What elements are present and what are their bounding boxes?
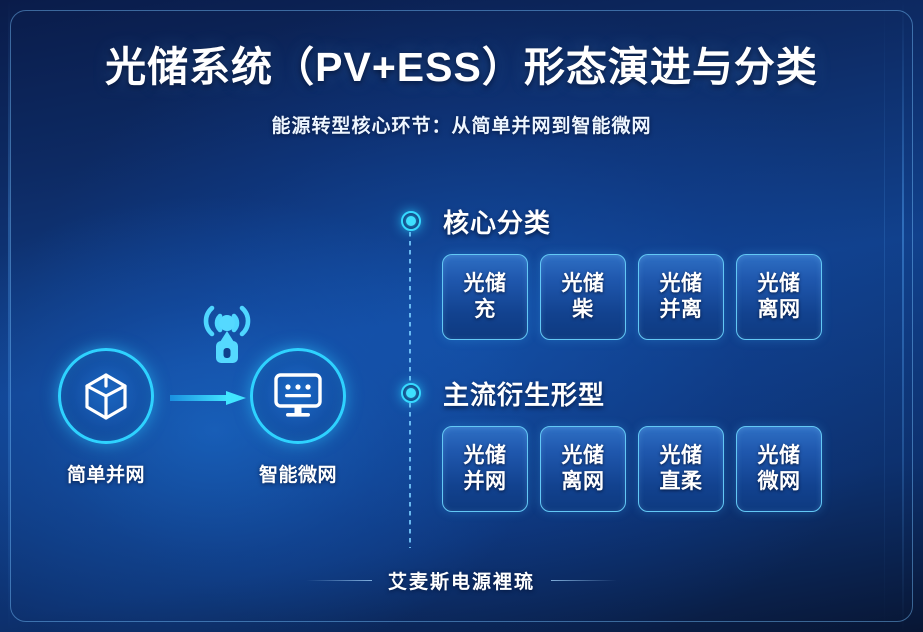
bullet-dot-icon: [401, 383, 421, 403]
footer: 艾麦斯电源裡琉: [0, 567, 923, 594]
evolution-diagram: 简单并网: [30, 290, 380, 520]
section-title: 主流衍生形型: [443, 375, 605, 412]
page-title: 光储系统（PV+ESS）形态演进与分类: [0, 42, 923, 93]
end-node-ring: [250, 348, 346, 444]
section-core-classification: 核心分类 光储 充 光储 柴 光储 并离 光储 离网: [392, 200, 892, 340]
chip-row: 光储 充 光储 柴 光储 并离 光储 离网: [442, 254, 892, 340]
diagram-node-end: 智能微网: [248, 348, 348, 487]
chip-item[interactable]: 光储 并网: [442, 426, 528, 512]
cube-icon: [80, 370, 132, 422]
section-header: 核心分类: [392, 200, 892, 242]
chip-item[interactable]: 光储 并离: [638, 254, 724, 340]
footer-divider-right: [551, 580, 617, 581]
chip-row: 光储 并网 光储 离网 光储 直柔 光储 微网: [442, 426, 892, 512]
classification-panel: 核心分类 光储 充 光储 柴 光储 并离 光储 离网 主流衍生形型 光储 并网 …: [392, 200, 892, 512]
chip-item[interactable]: 光储 充: [442, 254, 528, 340]
slide-canvas: 光储系统（PV+ESS）形态演进与分类 能源转型核心环节：从简单并网到智能微网 …: [0, 0, 923, 632]
page-subtitle: 能源转型核心环节：从简单并网到智能微网: [0, 111, 923, 138]
footer-divider-left: [306, 580, 372, 581]
start-node-ring: [58, 348, 154, 444]
diagram-node-start: 简单并网: [56, 348, 156, 487]
monitor-icon: [272, 371, 324, 421]
chip-item[interactable]: 光储 微网: [736, 426, 822, 512]
header: 光储系统（PV+ESS）形态演进与分类 能源转型核心环节：从简单并网到智能微网: [0, 42, 923, 138]
chip-item[interactable]: 光储 离网: [540, 426, 626, 512]
section-mainstream-derivatives: 主流衍生形型 光储 并网 光储 离网 光储 直柔 光储 微网: [392, 372, 892, 512]
section-header: 主流衍生形型: [392, 372, 892, 414]
chip-item[interactable]: 光储 直柔: [638, 426, 724, 512]
bullet-dot-icon: [401, 211, 421, 231]
chip-item[interactable]: 光储 柴: [540, 254, 626, 340]
arrow-right-icon: [170, 390, 248, 406]
start-node-label: 简单并网: [56, 460, 156, 487]
footer-brand-text: 艾麦斯电源裡琉: [388, 567, 535, 594]
section-title: 核心分类: [443, 203, 551, 240]
end-node-label: 智能微网: [248, 460, 348, 487]
chip-item[interactable]: 光储 离网: [736, 254, 822, 340]
